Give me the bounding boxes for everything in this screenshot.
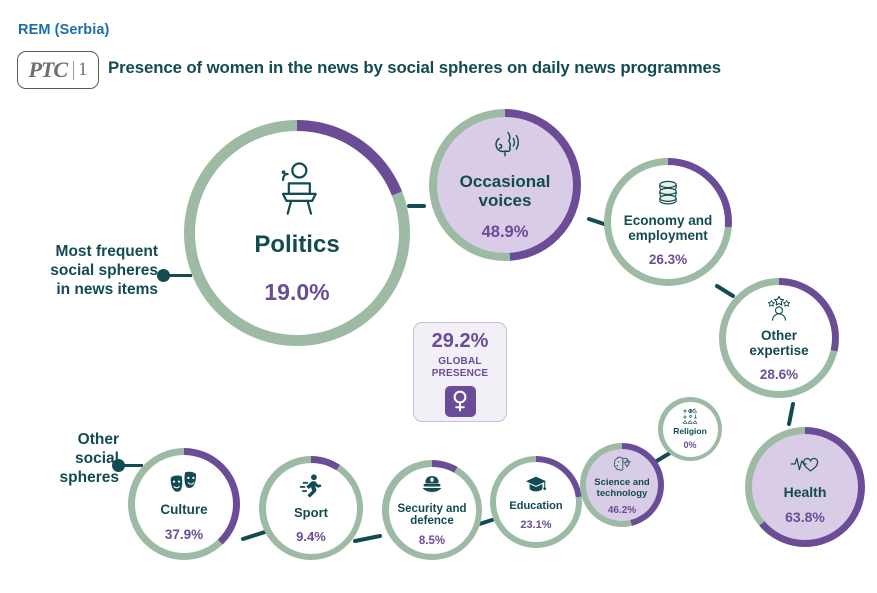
female-gender-icon [445,386,476,417]
sphere-node-sport[interactable]: Sport9.4% [259,456,363,560]
police-cap-icon [420,473,444,497]
sphere-body-religion: Religion0% [663,402,718,457]
sphere-label-politics: Politics [254,232,339,258]
sphere-body-culture: Culture37.9% [135,455,233,553]
sphere-node-occasional-voices[interactable]: Occasional voices48.9% [429,109,581,261]
theatre-masks-icon [169,466,199,496]
sphere-label-science-and-technology: Science and technology [594,478,649,499]
expert-stars-icon [765,294,793,322]
global-presence-value: 29.2% [432,330,489,353]
sphere-node-science-and-technology[interactable]: Science and technology46.2% [580,443,664,527]
sphere-label-sport: Sport [294,506,328,520]
sphere-value-politics: 19.0% [264,279,329,306]
sphere-label-culture: Culture [160,503,207,518]
ptc-logo: PTC1 [17,51,99,89]
sphere-value-religion: 0% [683,440,696,450]
coins-stack-icon [653,177,683,207]
sphere-label-occasional-voices: Occasional voices [460,173,551,210]
callout-other-spheres-text: Other social spheres [60,431,119,486]
sphere-label-religion: Religion [673,427,707,436]
sphere-label-economy-and-employment: Economy and employment [624,214,713,244]
sphere-node-other-expertise[interactable]: Other expertise28.6% [719,278,839,398]
global-presence-label: GLOBAL PRESENCE [432,356,489,380]
sphere-label-other-expertise: Other expertise [749,329,808,359]
sphere-value-health: 63.8% [785,509,825,525]
sphere-node-health[interactable]: Health63.8% [745,427,865,547]
logo-divider [73,61,74,80]
sphere-body-science-and-technology: Science and technology46.2% [586,449,658,521]
sphere-body-sport: Sport9.4% [266,463,357,554]
sphere-body-education: Education23.1% [496,462,576,542]
sphere-body-other-expertise: Other expertise28.6% [726,285,832,391]
religions-symbols-icon [682,408,698,424]
runner-icon [297,472,325,500]
sphere-label-education: Education [509,500,562,512]
callout-other-spheres: Other social spheres [34,431,119,488]
callout-most-frequent: Most frequent social spheres in news ite… [8,243,158,300]
graduation-cap-icon [525,473,547,495]
sphere-body-economy-and-employment: Economy and employment26.3% [611,165,725,279]
org-label: REM (Serbia) [18,22,109,38]
page-title: Presence of women in the news by social … [108,58,721,78]
sphere-node-politics[interactable]: Politics19.0% [184,120,410,346]
ptc-logo-text: PTC [28,57,67,83]
sphere-value-economy-and-employment: 26.3% [649,252,687,267]
infographic-canvas: REM (Serbia) PTC1 Presence of women in t… [0,0,877,593]
sphere-node-religion[interactable]: Religion0% [658,397,722,461]
sphere-node-education[interactable]: Education23.1% [490,456,582,548]
sphere-body-security-and-defence: Security and defence8.5% [389,467,476,554]
sphere-value-education: 23.1% [520,519,551,531]
sphere-value-culture: 37.9% [165,527,203,542]
sphere-body-health: Health63.8% [752,434,858,540]
speaking-face-icon [487,128,523,164]
sphere-label-security-and-defence: Security and defence [397,503,466,528]
heartbeat-icon [790,449,820,479]
speaker-podium-icon [269,160,325,216]
sphere-node-security-and-defence[interactable]: Security and defence8.5% [382,460,482,560]
sphere-body-politics: Politics19.0% [195,131,399,335]
global-presence-card: 29.2% GLOBAL PRESENCE [413,322,507,422]
sphere-value-science-and-technology: 46.2% [608,505,636,516]
sphere-node-economy-and-employment[interactable]: Economy and employment26.3% [604,158,732,286]
sphere-node-culture[interactable]: Culture37.9% [128,448,240,560]
brain-circuit-icon [612,454,632,474]
sphere-value-occasional-voices: 48.9% [482,223,529,242]
sphere-value-other-expertise: 28.6% [760,367,798,382]
sphere-value-security-and-defence: 8.5% [419,535,445,547]
sphere-label-health: Health [784,485,827,500]
ptc-logo-channel: 1 [78,59,88,81]
sphere-value-sport: 9.4% [296,529,326,544]
callout-most-frequent-text: Most frequent social spheres in news ite… [50,243,158,298]
sphere-body-occasional-voices: Occasional voices48.9% [437,117,573,253]
